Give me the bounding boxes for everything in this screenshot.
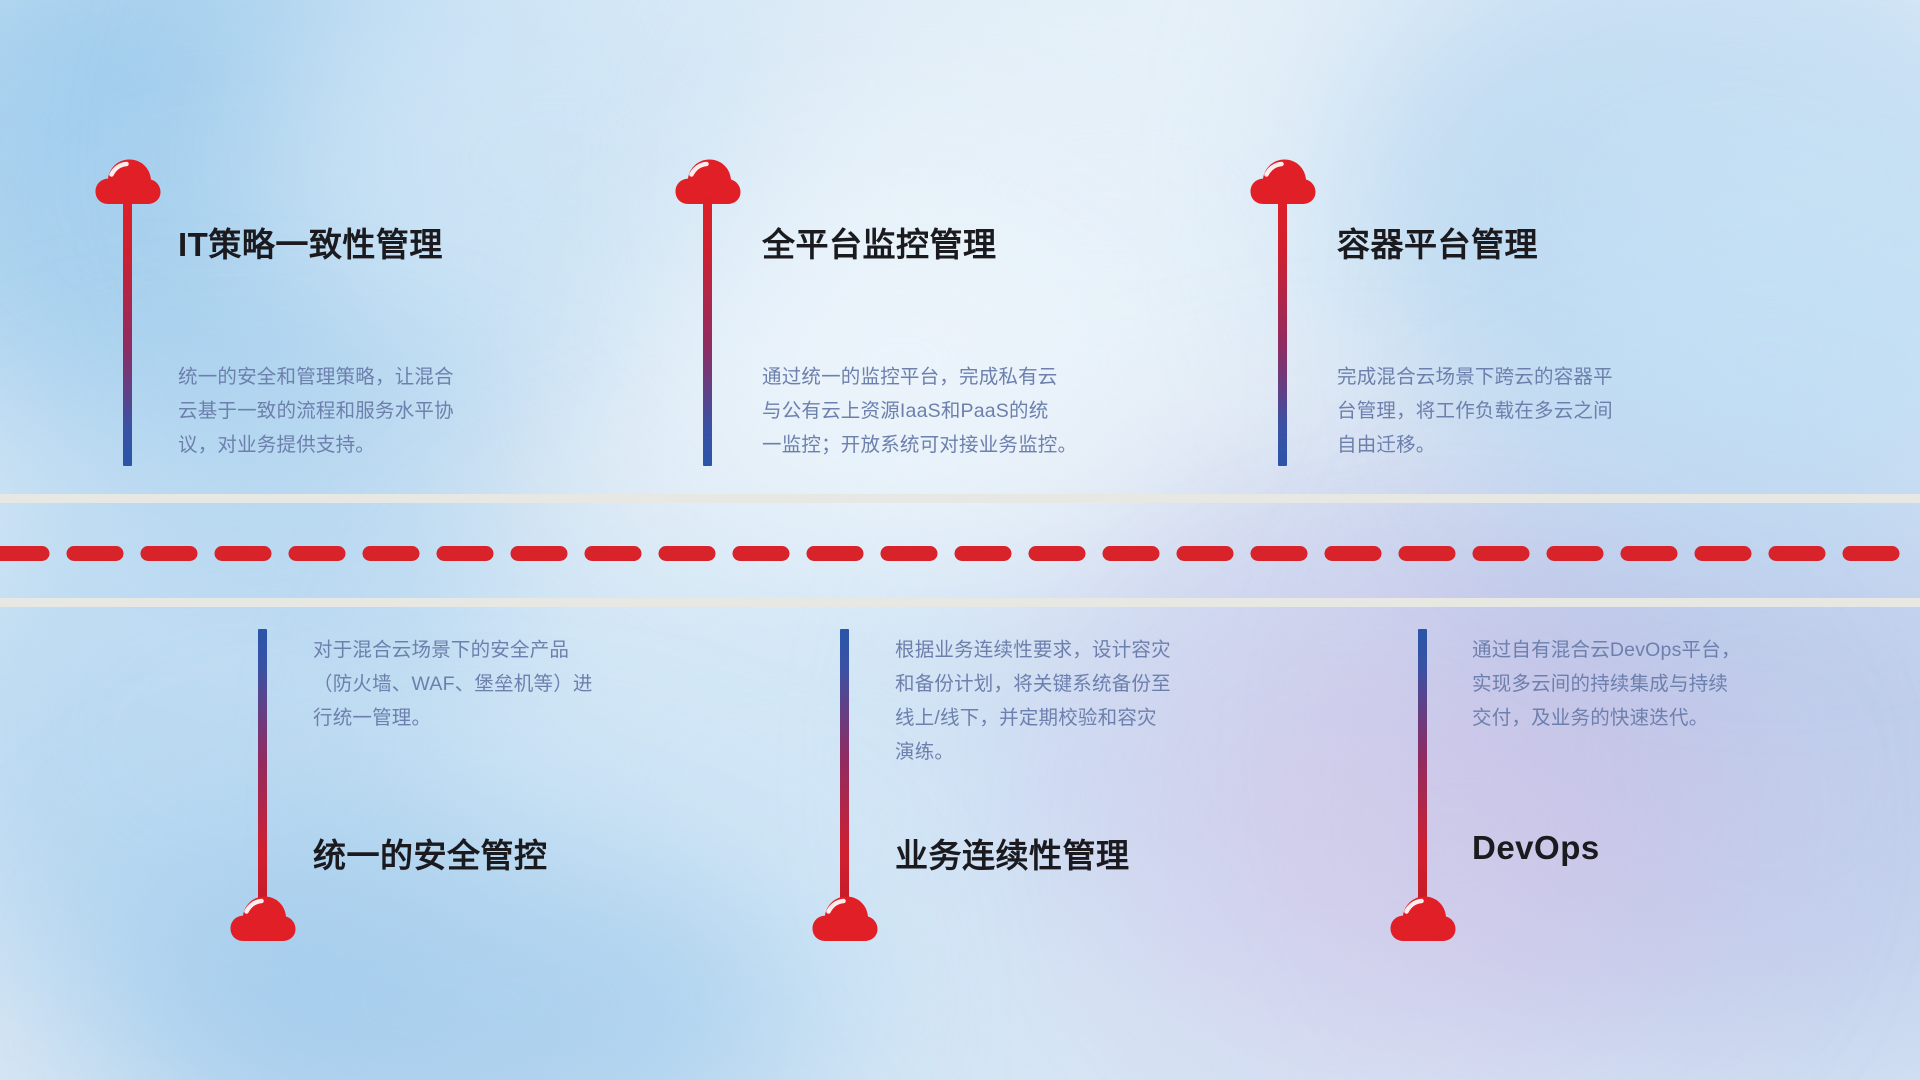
column-title: 统一的安全管控 (313, 829, 548, 877)
column-body: 通过统一的监控平台，完成私有云 与公有云上资源IaaS和PaaS的统 一监控；开… (762, 360, 1202, 462)
timeline-stem (123, 196, 132, 466)
timeline-stem (703, 196, 712, 466)
column-body: 根据业务连续性要求，设计容灾 和备份计划，将关键系统备份至 线上/线下，并定期校… (895, 633, 1325, 769)
cloud-icon (1390, 895, 1456, 943)
cloud-icon (230, 895, 296, 943)
timeline-stem (1278, 196, 1287, 466)
timeline-stem (840, 629, 849, 904)
column-body: 完成混合云场景下跨云的容器平 台管理，将工作负载在多云之间 自由迁移。 (1337, 360, 1777, 462)
infographic-canvas: IT策略一致性管理 统一的安全和管理策略，让混合 云基于一致的流程和服务水平协 … (0, 0, 1920, 1080)
divider-rule-bottom (0, 598, 1920, 607)
cloud-icon (812, 895, 878, 943)
column-body: 统一的安全和管理策略，让混合 云基于一致的流程和服务水平协 议，对业务提供支持。 (178, 360, 608, 462)
divider-rule-top (0, 494, 1920, 503)
column-body: 对于混合云场景下的安全产品 （防火墙、WAF、堡垒机等）进 行统一管理。 (313, 633, 743, 735)
column-title: IT策略一致性管理 (178, 218, 443, 266)
column-body: 通过自有混合云DevOps平台， 实现多云间的持续集成与持续 交付，及业务的快速… (1472, 633, 1902, 735)
column-title: DevOps (1472, 829, 1600, 867)
column-title: 全平台监控管理 (762, 218, 997, 266)
column-title: 业务连续性管理 (895, 829, 1130, 877)
timeline-stem (258, 629, 267, 904)
column-title: 容器平台管理 (1337, 218, 1538, 266)
timeline-stem (1418, 629, 1427, 904)
divider-dashed-line (0, 546, 1920, 561)
